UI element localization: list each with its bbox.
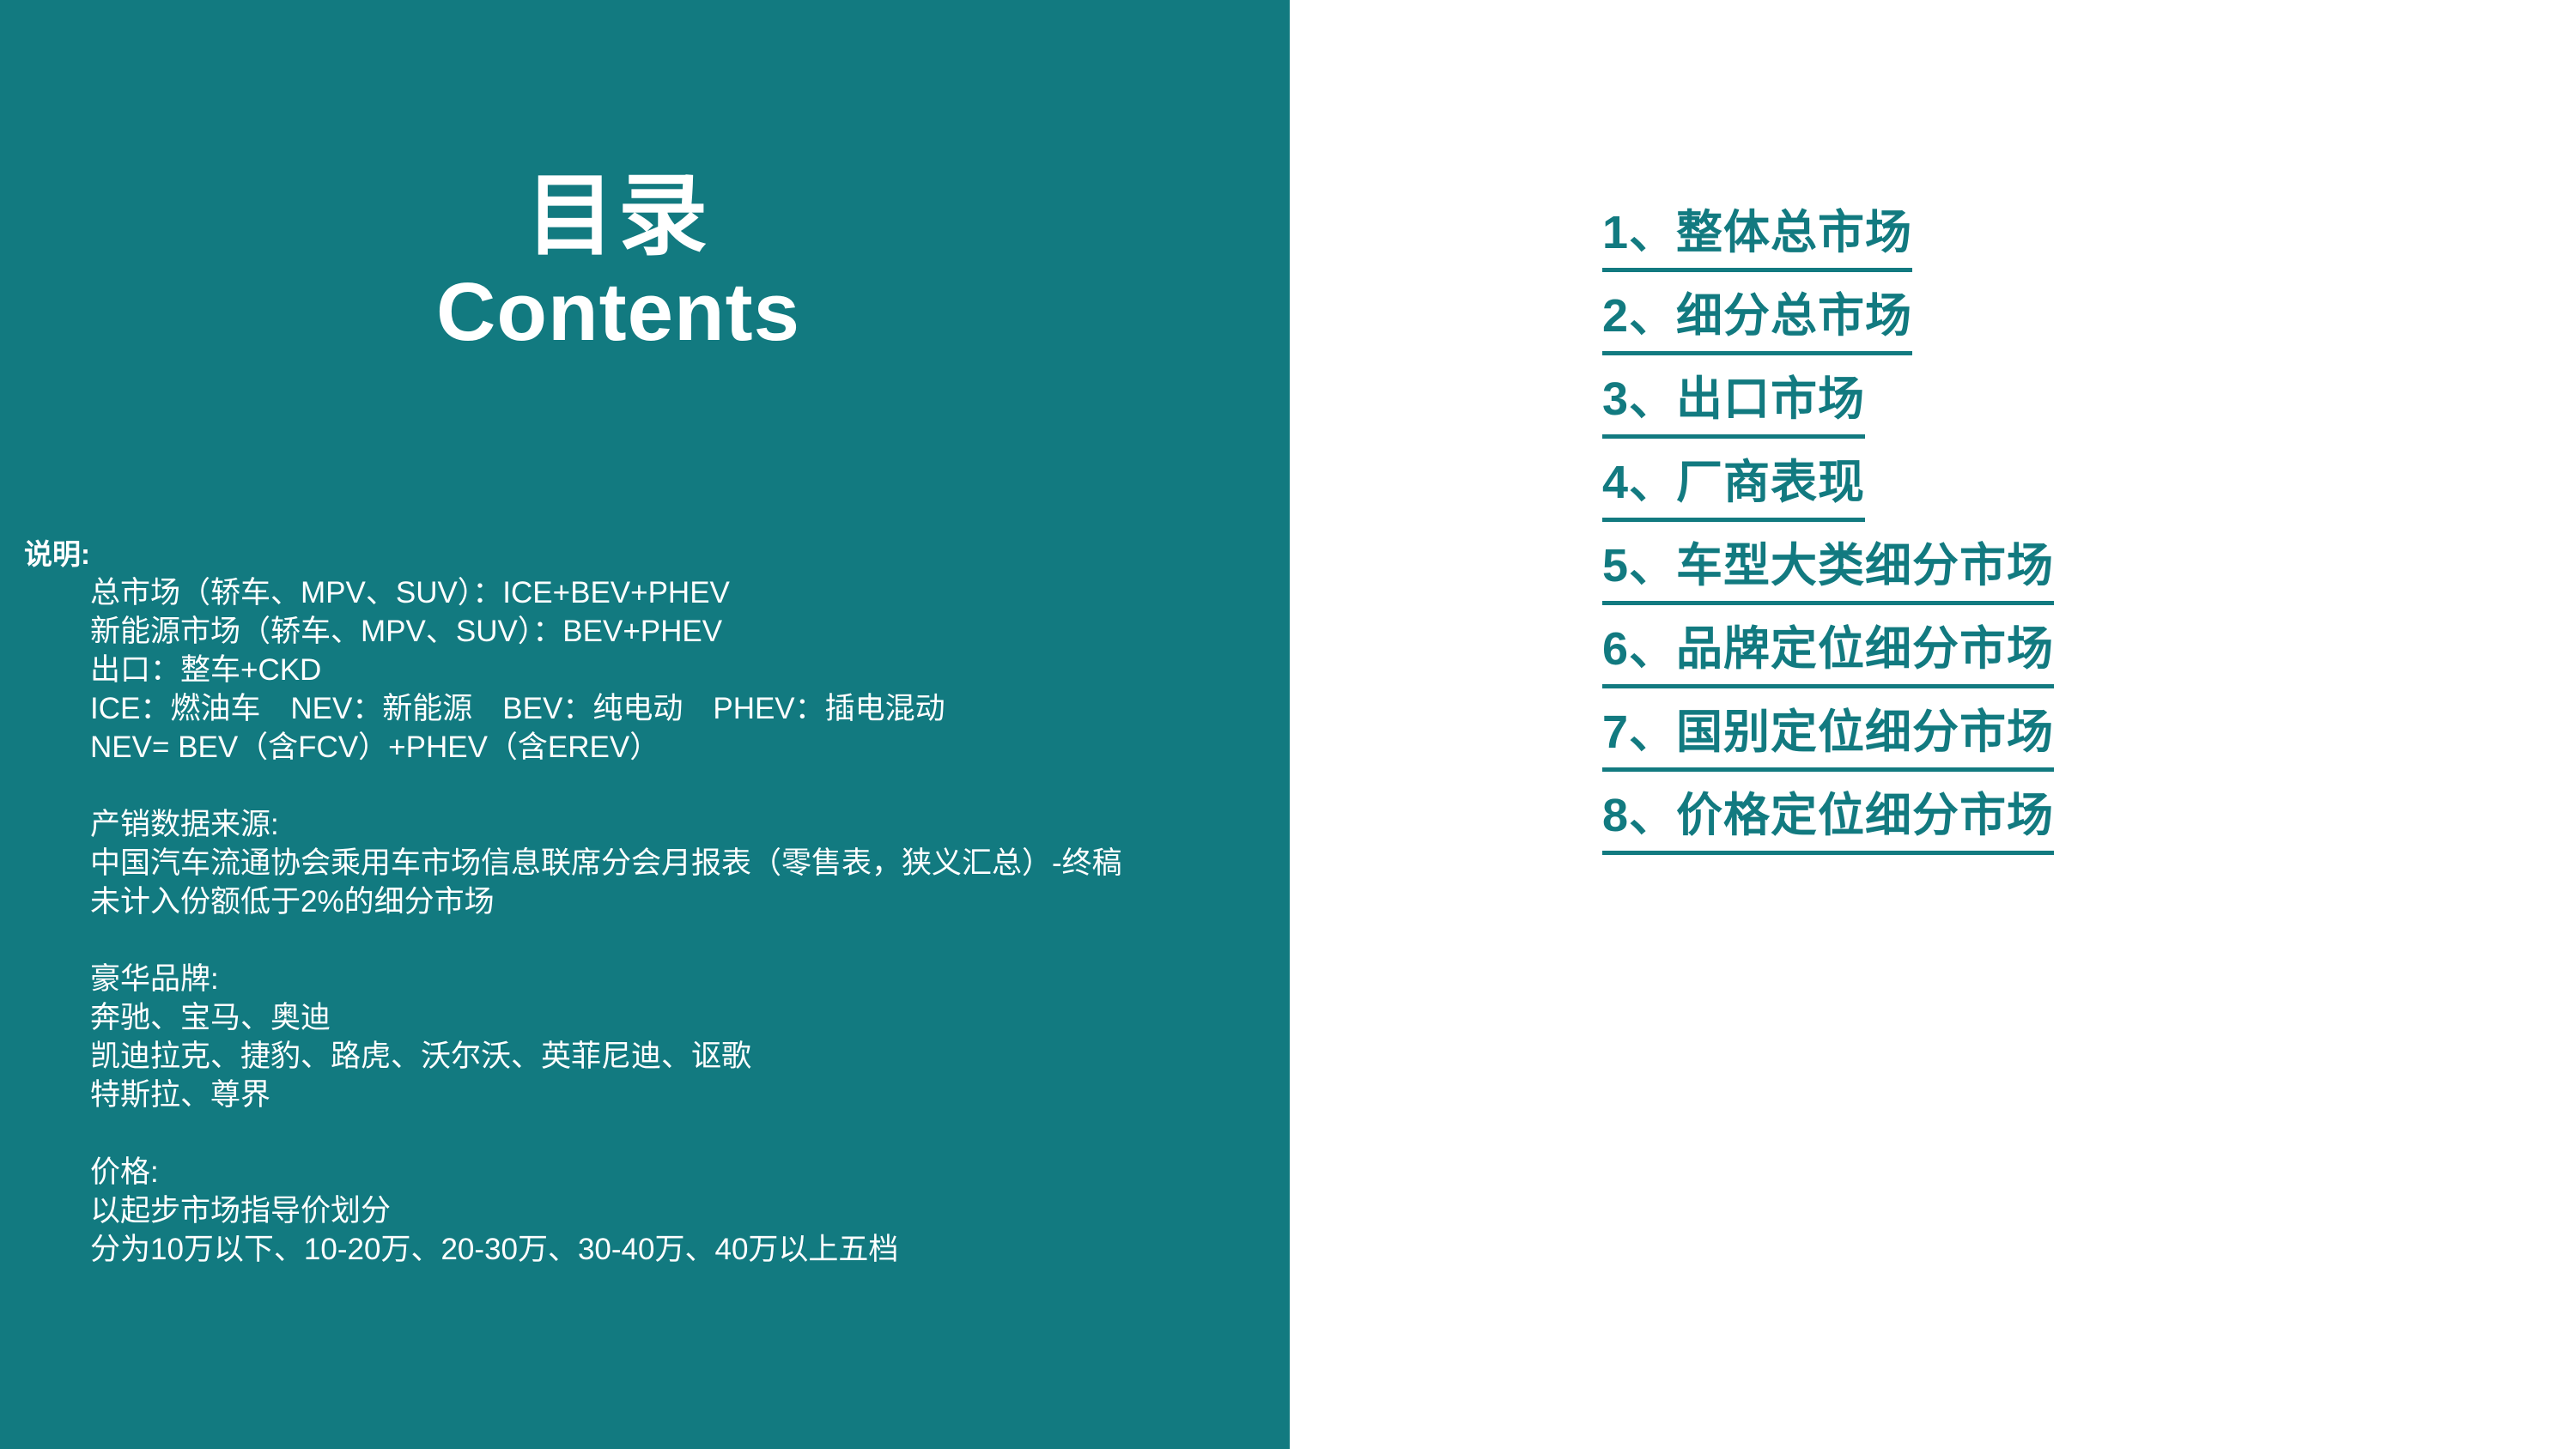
toc-item-label: 出口市场 (1676, 373, 1865, 425)
notes-spacer (90, 921, 1269, 960)
notes-luxury-heading: 豪华品牌: (90, 960, 1269, 998)
note-line: 出口：整车+CKD (90, 651, 1269, 689)
toc-item-text: 6、品牌定位细分市场 (1602, 617, 2054, 688)
toc-item-number: 4、 (1602, 457, 1676, 508)
note-line: 以起步市场指导价划分 (90, 1191, 1269, 1230)
note-line: 凯迪拉克、捷豹、路虎、沃尔沃、英菲尼迪、讴歌 (90, 1037, 1269, 1076)
toc-item-label: 国别定位细分市场 (1676, 706, 2054, 758)
title-block: 目录 Contents (0, 168, 1236, 357)
notes-heading: 说明: (24, 536, 1269, 573)
toc-item-number: 2、 (1602, 290, 1676, 342)
toc-item-label: 细分总市场 (1676, 290, 1912, 342)
toc-item-number: 6、 (1602, 623, 1676, 675)
toc-item-1[interactable]: 1、整体总市场 (1602, 201, 2547, 284)
notes-spacer (90, 1114, 1269, 1153)
notes-price-heading: 价格: (90, 1153, 1269, 1191)
toc-item-number: 7、 (1602, 706, 1676, 758)
slide-contents-page: 目录 Contents 说明: 总市场（轿车、MPV、SUV）：ICE+BEV+… (0, 0, 2576, 1449)
toc-item-label: 价格定位细分市场 (1676, 790, 2054, 841)
toc-item-label: 整体总市场 (1676, 207, 1912, 258)
toc-item-number: 3、 (1602, 373, 1676, 425)
note-line: 总市场（轿车、MPV、SUV）：ICE+BEV+PHEV (90, 573, 1269, 612)
notes-definitions-group: 总市场（轿车、MPV、SUV）：ICE+BEV+PHEV 新能源市场（轿车、MP… (90, 573, 1269, 1269)
toc-item-label: 品牌定位细分市场 (1676, 623, 2054, 675)
toc-item-text: 4、厂商表现 (1602, 451, 1865, 522)
toc-item-8[interactable]: 8、价格定位细分市场 (1602, 784, 2547, 867)
note-line: 奔驰、宝马、奥迪 (90, 998, 1269, 1037)
table-of-contents: 1、整体总市场 2、细分总市场 3、出口市场 4、厂商表现 5、车型大类细分市场… (1602, 201, 2547, 867)
note-line: 未计入份额低于2%的细分市场 (90, 882, 1269, 921)
toc-item-text: 7、国别定位细分市场 (1602, 700, 2054, 772)
toc-item-text: 8、价格定位细分市场 (1602, 784, 2054, 855)
note-line: 分为10万以下、10-20万、20-30万、30-40万、40万以上五档 (90, 1230, 1269, 1269)
toc-item-2[interactable]: 2、细分总市场 (1602, 284, 2547, 367)
toc-item-text: 2、细分总市场 (1602, 284, 1912, 355)
toc-item-7[interactable]: 7、国别定位细分市场 (1602, 700, 2547, 784)
toc-item-label: 厂商表现 (1676, 457, 1865, 508)
notes-spacer (90, 767, 1269, 805)
toc-item-6[interactable]: 6、品牌定位细分市场 (1602, 617, 2547, 700)
toc-item-number: 5、 (1602, 540, 1676, 591)
note-line: 特斯拉、尊界 (90, 1076, 1269, 1114)
note-line: NEV= BEV（含FCV）+PHEV（含EREV） (90, 728, 1269, 767)
toc-item-3[interactable]: 3、出口市场 (1602, 367, 2547, 451)
toc-item-5[interactable]: 5、车型大类细分市场 (1602, 534, 2547, 617)
note-line: 中国汽车流通协会乘用车市场信息联席分会月报表（零售表，狭义汇总）-终稿 (90, 844, 1269, 882)
toc-item-text: 5、车型大类细分市场 (1602, 534, 2054, 605)
notes-source-heading: 产销数据来源: (90, 805, 1269, 844)
page-title-en: Contents (0, 268, 1236, 357)
toc-item-number: 1、 (1602, 207, 1676, 258)
toc-item-label: 车型大类细分市场 (1676, 540, 2054, 591)
note-line: ICE：燃油车 NEV：新能源 BEV：纯电动 PHEV：插电混动 (90, 689, 1269, 728)
note-line: 新能源市场（轿车、MPV、SUV）：BEV+PHEV (90, 612, 1269, 651)
toc-item-text: 1、整体总市场 (1602, 201, 1912, 272)
toc-item-4[interactable]: 4、厂商表现 (1602, 451, 2547, 534)
page-title-cn: 目录 (0, 168, 1236, 264)
toc-item-number: 8、 (1602, 790, 1676, 841)
notes-panel: 说明: 总市场（轿车、MPV、SUV）：ICE+BEV+PHEV 新能源市场（轿… (24, 536, 1269, 1269)
toc-item-text: 3、出口市场 (1602, 367, 1865, 439)
